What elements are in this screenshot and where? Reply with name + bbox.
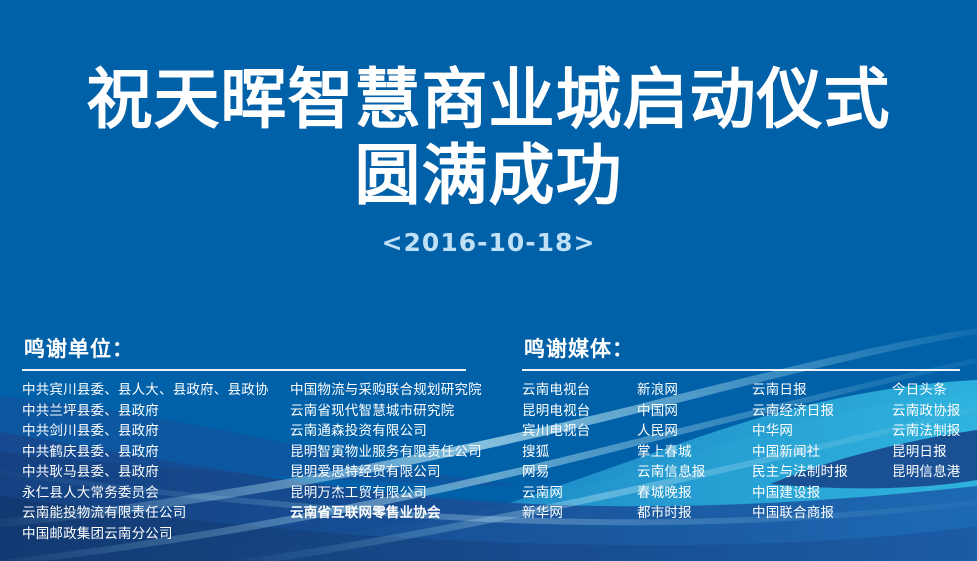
acknowledged-media-entry: 中国联合商报 [752,503,892,524]
acknowledged-media-entry: 新华网 [522,503,637,524]
acknowledged-media-entry: 人民网 [637,421,752,442]
acknowledged-unit-entry: 昆明万杰工贸有限公司 [290,483,468,504]
acknowledged-units-column-1: 中共宾川县委、县人大、县政府、县政协中共兰坪县委、县政府中共剑川县委、县政府中共… [22,380,290,544]
acknowledged-media-column-3: 云南日报云南经济日报中华网中国新闻社民主与法制时报中国建设报中国联合商报 [752,380,892,524]
acknowledged-units-column-2: 中国物流与采购联合规划研究院云南省现代智慧城市研究院云南通森投资有限公司昆明智寅… [290,380,468,524]
acknowledged-unit-entry: 云南省互联网零售业协会 [290,503,468,524]
acknowledged-unit-entry: 中国物流与采购联合规划研究院 [290,380,468,401]
acknowledged-media-entry: 昆明电视台 [522,401,637,422]
acknowledged-media-entry: 今日头条 [892,380,962,401]
banner-canvas: 祝天晖智慧商业城启动仪式 圆满成功 <2016-10-18> 鸣谢单位： 中共宾… [0,0,977,561]
acknowledged-media-entry: 云南网 [522,483,637,504]
acknowledged-media-entry: 掌上春城 [637,442,752,463]
acknowledged-unit-entry: 永仁县人大常务委员会 [22,483,290,504]
acknowledged-media-entry: 搜狐 [522,442,637,463]
acknowledged-media-entry: 云南政协报 [892,401,962,422]
acknowledged-media-entry: 昆明信息港 [892,462,962,483]
acknowledged-unit-entry: 中国邮政集团云南分公司 [22,524,290,545]
acknowledged-unit-entry: 中共耿马县委、县政府 [22,462,290,483]
acknowledged-media-entry: 云南电视台 [522,380,637,401]
acknowledged-media-entry: 中国新闻社 [752,442,892,463]
banner-title-line-1: 祝天晖智慧商业城启动仪式 [0,62,977,138]
acknowledged-media-columns: 云南电视台昆明电视台宾川电视台搜狐网易云南网新华网 新浪网中国网人民网掌上春城云… [522,380,962,524]
banner-title-line-2: 圆满成功 [0,138,977,214]
acknowledged-media-entry: 中国建设报 [752,483,892,504]
acknowledged-media-panel: 鸣谢媒体： 云南电视台昆明电视台宾川电视台搜狐网易云南网新华网 新浪网中国网人民… [522,336,962,524]
acknowledged-units-divider [22,369,466,371]
acknowledged-media-divider [522,369,960,371]
acknowledged-media-entry: 云南法制报 [892,421,962,442]
acknowledged-media-entry: 昆明日报 [892,442,962,463]
acknowledged-units-columns: 中共宾川县委、县人大、县政府、县政协中共兰坪县委、县政府中共剑川县委、县政府中共… [22,380,468,544]
acknowledged-unit-entry: 中共宾川县委、县人大、县政府、县政协 [22,380,290,401]
acknowledged-unit-entry: 云南能投物流有限责任公司 [22,503,290,524]
title-block: 祝天晖智慧商业城启动仪式 圆满成功 <2016-10-18> [0,62,977,258]
acknowledged-unit-entry: 昆明爱思特经贸有限公司 [290,462,468,483]
acknowledged-media-entry: 宾川电视台 [522,421,637,442]
acknowledged-media-entry: 中华网 [752,421,892,442]
acknowledged-media-entry: 云南经济日报 [752,401,892,422]
acknowledged-media-column-2: 新浪网中国网人民网掌上春城云南信息报春城晚报都市时报 [637,380,752,524]
acknowledged-media-entry: 民主与法制时报 [752,462,892,483]
event-date: <2016-10-18> [0,228,977,258]
acknowledged-media-entry: 云南信息报 [637,462,752,483]
acknowledged-media-column-4: 今日头条云南政协报云南法制报昆明日报昆明信息港 [892,380,962,483]
acknowledged-media-entry: 中国网 [637,401,752,422]
acknowledged-media-entry: 云南日报 [752,380,892,401]
acknowledged-unit-entry: 中共剑川县委、县政府 [22,421,290,442]
acknowledged-unit-entry: 云南省现代智慧城市研究院 [290,401,468,422]
acknowledged-media-column-1: 云南电视台昆明电视台宾川电视台搜狐网易云南网新华网 [522,380,637,524]
acknowledged-media-entry: 都市时报 [637,503,752,524]
acknowledged-units-panel: 鸣谢单位： 中共宾川县委、县人大、县政府、县政协中共兰坪县委、县政府中共剑川县委… [22,336,468,544]
acknowledged-media-entry: 网易 [522,462,637,483]
acknowledged-media-heading: 鸣谢媒体： [524,336,962,362]
acknowledged-media-entry: 新浪网 [637,380,752,401]
acknowledged-unit-entry: 昆明智寅物业服务有限责任公司 [290,442,468,463]
acknowledged-unit-entry: 云南通森投资有限公司 [290,421,468,442]
acknowledged-unit-entry: 中共鹤庆县委、县政府 [22,442,290,463]
acknowledged-media-entry: 春城晚报 [637,483,752,504]
acknowledged-unit-entry: 中共兰坪县委、县政府 [22,401,290,422]
acknowledged-units-heading: 鸣谢单位： [24,336,468,362]
